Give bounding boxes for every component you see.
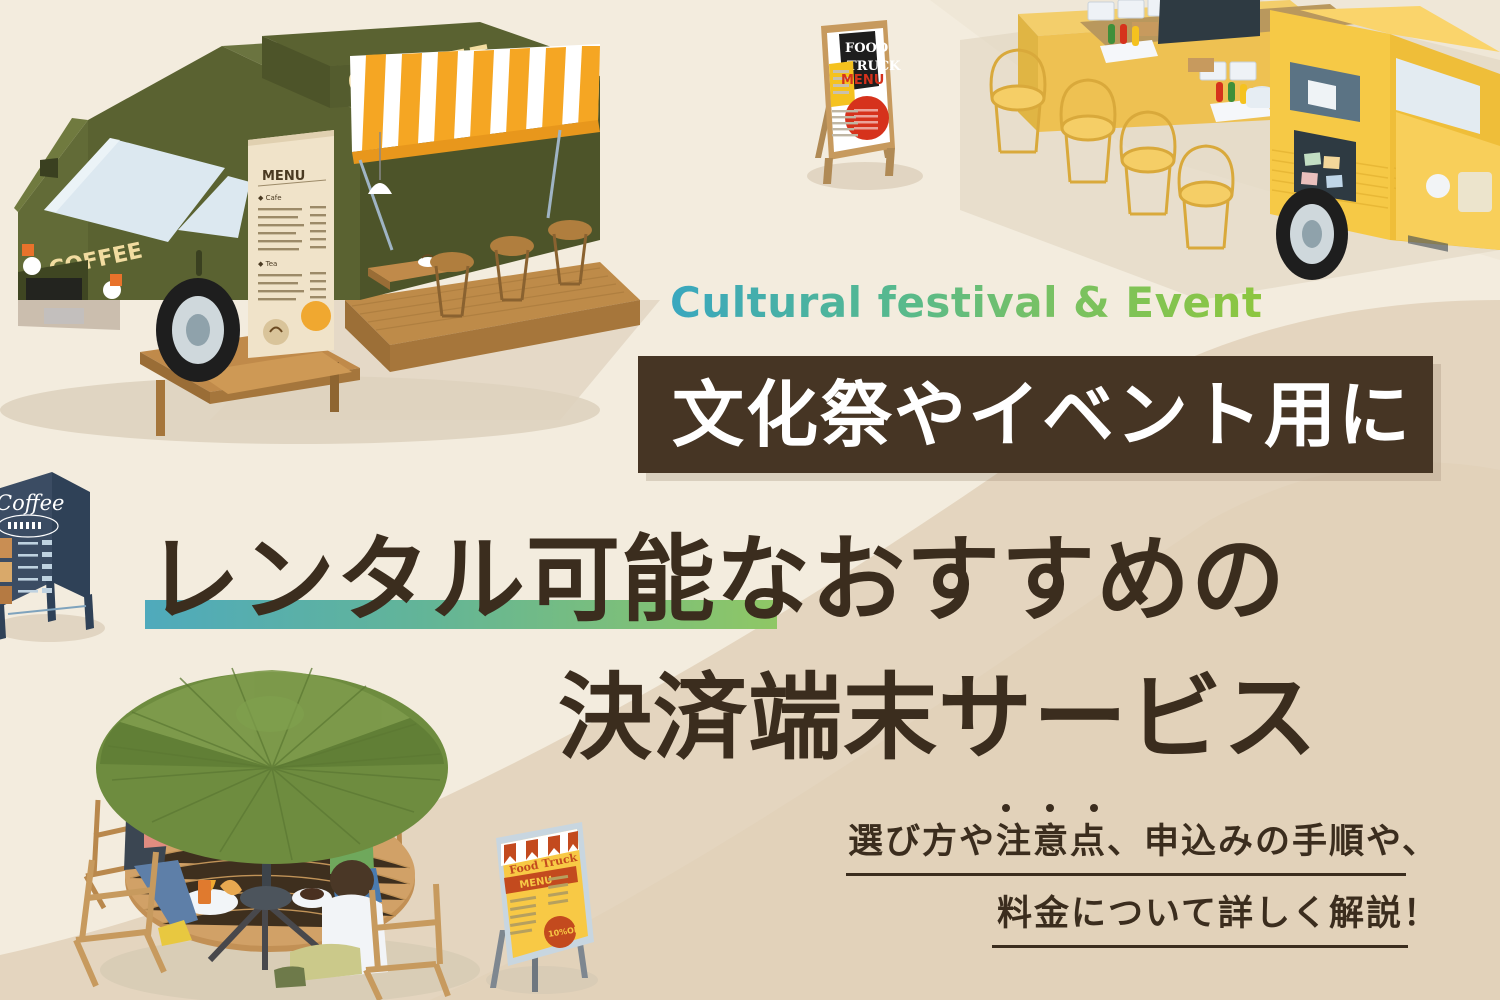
food-truck-sign-illustration: FOOD TRUCK MENU bbox=[795, 8, 930, 198]
sign-menu-text: MENU bbox=[841, 73, 884, 88]
band-title: 文化祭やイベント用に bbox=[672, 363, 1412, 467]
coffee-sign-title: Coffee bbox=[0, 491, 64, 515]
subheading-line-2: 料金について詳しく解説！ bbox=[997, 885, 1440, 936]
subheading-block: 選び方や注意点、申込みの手順や、 料金について詳しく解説！ bbox=[846, 806, 1446, 950]
sign-truck-text: TRUCK bbox=[847, 59, 901, 74]
svg-text:◆ Tea: ◆ Tea bbox=[258, 260, 277, 268]
subheading-line-1: 選び方や注意点、申込みの手順や、 bbox=[848, 813, 1439, 864]
truck-menu-title: MENU bbox=[262, 169, 305, 184]
headline-line-1: レンタル可能なおすすめの bbox=[146, 504, 1286, 640]
headline-block: レンタル可能なおすすめの 決済端末サービス bbox=[140, 492, 1450, 782]
subheading-rule-2 bbox=[992, 945, 1408, 948]
eyebrow-text: Cultural festival & Event bbox=[670, 278, 1262, 327]
menu-poster-stand-illustration: Food Truck MENU 10%OFF bbox=[470, 820, 615, 1000]
subheading-row-1: 選び方や注意点、申込みの手順や、 bbox=[846, 806, 1446, 878]
subheading-row-2: 料金について詳しく解説！ bbox=[846, 878, 1446, 950]
coffee-aframe-sign-illustration: Coffee bbox=[0, 450, 114, 650]
emphasis-dots bbox=[1002, 804, 1098, 812]
svg-text:◆ Cafe: ◆ Cafe bbox=[258, 194, 282, 202]
coffee-truck-illustration: COFFEE MENU ◆ Cafe ◆ Tea COFFEE bbox=[0, 0, 660, 450]
subheading-rule-1 bbox=[846, 873, 1406, 876]
yellow-truck-illustration bbox=[960, 0, 1500, 300]
sign-food-text: FOOD bbox=[845, 41, 888, 56]
headline-line-2: 決済端末サービス bbox=[558, 642, 1318, 778]
poster-canvas: COFFEE MENU ◆ Cafe ◆ Tea COFFEE bbox=[0, 0, 1500, 1000]
